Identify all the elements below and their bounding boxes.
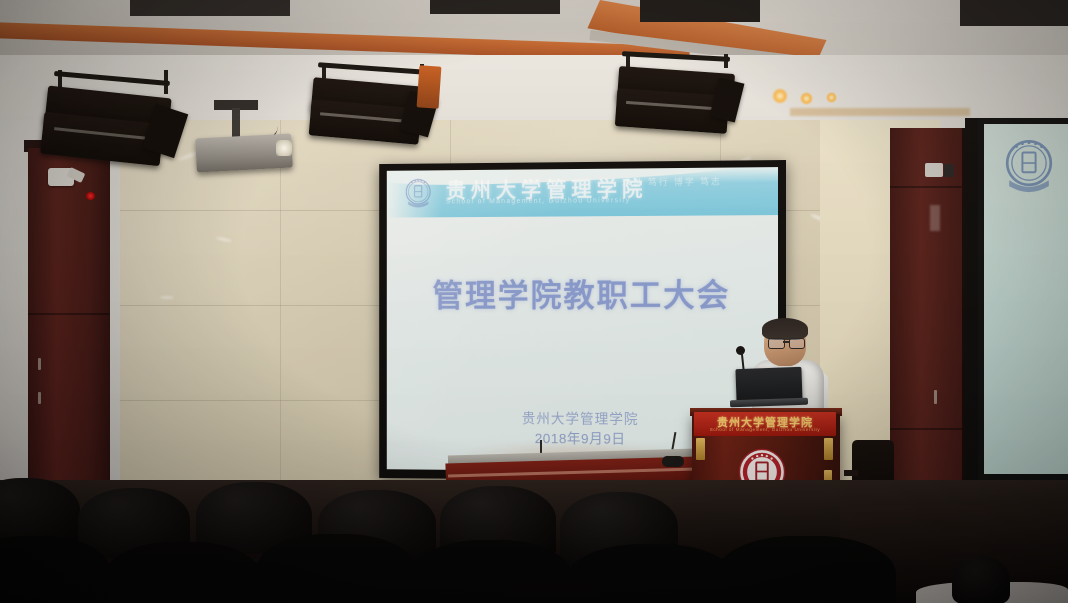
secondary-display [978,118,1068,480]
ceiling-mount-bracket [417,65,442,108]
audience-seat [104,542,262,603]
audience-seat [566,544,736,603]
secondary-display-surface [984,124,1068,474]
microphone-icon [662,456,684,467]
wood-column-right [890,128,968,528]
accent-light [772,88,788,104]
stage-light-right [614,54,774,154]
audience-seat [256,534,416,603]
status-led-icon [86,192,95,200]
projector-mount [232,108,240,140]
wall-scuff [930,205,940,231]
slide-header-title-en: School of Management, Guizhou University [446,197,631,205]
ceiling-vent [430,0,560,14]
wall-ledge [790,108,970,116]
podium-banner: 贵州大学管理学院 School of Management, Guizhou U… [694,412,836,436]
university-crest-icon [400,175,436,212]
audience-seat [410,540,572,603]
stage-chair-arm [844,470,858,476]
accent-light [800,92,813,105]
wall-speaker-icon [944,164,954,177]
stage-light-left [40,70,210,180]
slide-main-title: 管理学院教职工大会 [387,270,778,316]
audience-seat [716,536,896,603]
wall-sensor-icon [925,163,943,177]
eyeglasses-icon [768,338,785,349]
stage-light-center [308,64,468,164]
eyeglasses-bridge [783,341,789,343]
ceiling-vent [640,0,760,22]
projector-lens-icon [276,140,292,156]
presenter-hair [762,318,808,340]
slide-header-motto: 求是 笃行 博学 笃志 [622,176,722,189]
accent-light [826,92,837,103]
wood-column-left [28,148,110,493]
podium-banner-text-en: School of Management, Guizhou University [694,427,836,432]
audience-member-head [952,556,1010,603]
auditorium-photo: 贵州大学管理学院 School of Management, Guizhou U… [0,0,1068,603]
podium-gold-trim [696,438,705,460]
podium-gold-trim [824,438,833,460]
university-crest-icon [996,134,1062,200]
ceiling-vent [130,0,290,16]
ceiling-vent [960,0,1068,26]
eyeglasses-icon [789,338,805,349]
